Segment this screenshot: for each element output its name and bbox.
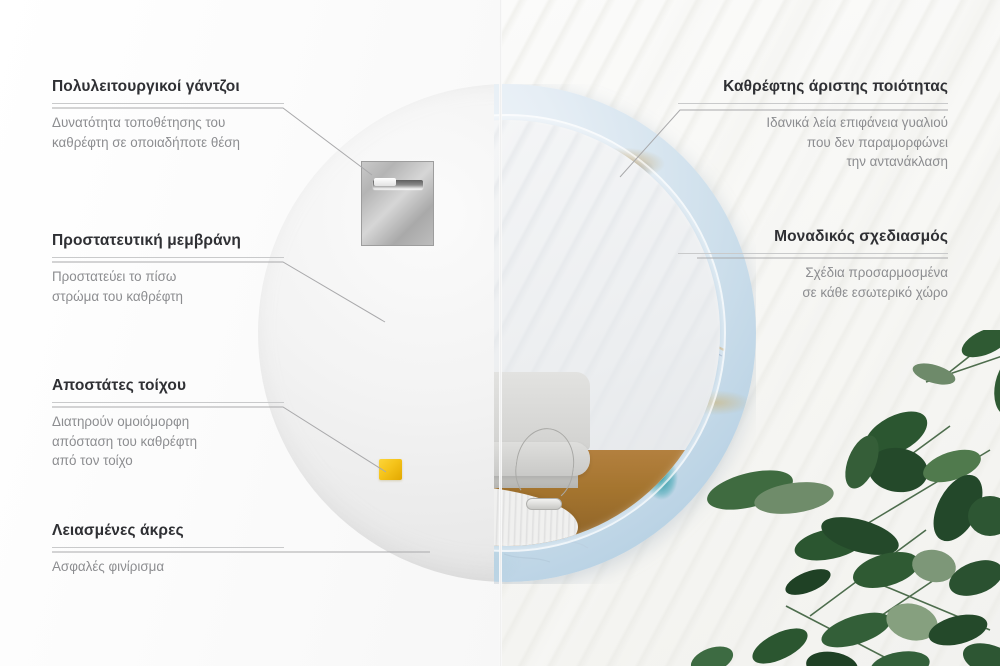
callout-body: Προστατεύει το πίσω στρώμα του καθρέφτη xyxy=(52,267,284,306)
wall-spacer-icon xyxy=(379,459,402,480)
mirror-glass-reflection xyxy=(494,120,720,546)
callout-rule xyxy=(52,547,284,548)
callout-body: Διατηρούν ομοιόμορφη απόσταση του καθρέφ… xyxy=(52,412,284,471)
callout-unique-design: Μοναδικός σχεδιασμός Σχέδια προσαρμοσμέν… xyxy=(678,228,948,302)
callout-rule xyxy=(52,402,284,403)
callout-title: Αποστάτες τοίχου xyxy=(52,377,284,395)
callout-body: Σχέδια προσαρμοσμένα σε κάθε εσωτερικό χ… xyxy=(678,263,948,302)
bracket-highlight xyxy=(374,178,396,186)
callout-rule xyxy=(678,253,948,254)
callout-multifunctional-hooks: Πολυλειτουργικοί γάντζοι Δυνατότητα τοπο… xyxy=(52,78,284,152)
panel-divider xyxy=(499,0,502,666)
callout-smoothed-edges: Λειασμένες άκρες Ασφαλές φινίρισμα xyxy=(52,522,284,577)
callout-body: Δυνατότητα τοποθέτησης του καθρέφτη σε ο… xyxy=(52,113,284,152)
callout-rule xyxy=(52,103,284,104)
callout-wall-spacers: Αποστάτες τοίχου Διατηρούν ομοιόμορφη απ… xyxy=(52,377,284,471)
callout-top-quality-mirror: Καθρέφτης άριστης ποιότητας Ιδανικά λεία… xyxy=(678,78,948,172)
infographic-canvas: Πολυλειτουργικοί γάντζοι Δυνατότητα τοπο… xyxy=(0,0,1000,666)
callout-rule xyxy=(52,257,284,258)
callout-protective-membrane: Προστατευτική μεμβράνη Προστατεύει το πί… xyxy=(52,232,284,306)
callout-title: Καθρέφτης άριστης ποιότητας xyxy=(678,78,948,96)
callout-title: Προστατευτική μεμβράνη xyxy=(52,232,284,250)
mirror-back-disc xyxy=(258,84,501,582)
callout-title: Λειασμένες άκρες xyxy=(52,522,284,540)
callout-body: Ιδανικά λεία επιφάνεια γυαλιού που δεν π… xyxy=(678,113,948,172)
callout-title: Πολυλειτουργικοί γάντζοι xyxy=(52,78,284,96)
callout-body: Ασφαλές φινίρισμα xyxy=(52,557,284,577)
callout-rule xyxy=(678,103,948,104)
reflected-lamp-base xyxy=(526,498,562,510)
hanging-bracket-icon xyxy=(361,161,434,246)
foliage-decoration xyxy=(690,330,1000,666)
callout-title: Μοναδικός σχεδιασμός xyxy=(678,228,948,246)
